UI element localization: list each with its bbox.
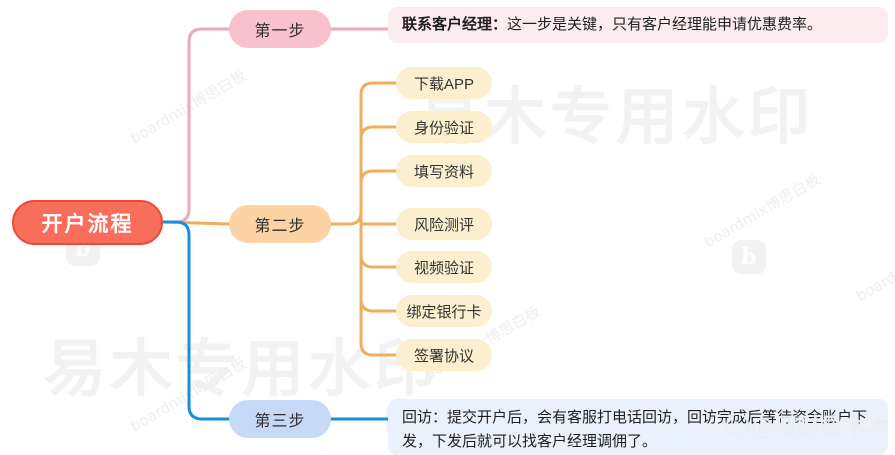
branch-node-step2[interactable]: 第二步 (229, 205, 331, 243)
leaf-node-5[interactable]: 视频验证 (396, 251, 492, 283)
user-watermark: @理财易木木 (726, 407, 889, 441)
link-step2-child-2 (361, 127, 396, 224)
leaf-node-1[interactable]: 下载APP (396, 67, 492, 99)
leaf-node-5-label: 视频验证 (414, 257, 474, 278)
link-step2-child-7 (361, 224, 396, 355)
leaf-node-3-label: 填写资料 (414, 161, 474, 182)
branch-node-step1-label: 第一步 (254, 17, 305, 41)
branch-node-step1[interactable]: 第一步 (229, 10, 331, 48)
branch-node-step3-label: 第三步 (254, 407, 305, 431)
leaf-node-7-label: 签署协议 (414, 345, 474, 366)
detail-card-step1-separator: ： (492, 16, 507, 33)
leaf-node-6[interactable]: 绑定银行卡 (396, 295, 492, 327)
leaf-node-7[interactable]: 签署协议 (396, 339, 492, 371)
leaf-node-4-label: 风险测评 (414, 214, 474, 235)
link-step2-child-5 (361, 224, 396, 267)
detail-card-step1[interactable]: 联系客户经理：这一步是关键，只有客户经理能申请优惠费率。 (388, 7, 888, 43)
leaf-node-6-label: 绑定银行卡 (406, 301, 481, 322)
mindmap-canvas: 易木专用水印 易木专用水印 boardmix博思白板 boardmix博思白板 … (0, 0, 895, 455)
root-node-label: 开户流程 (42, 208, 134, 238)
detail-card-step1-body: 这一步是关键，只有客户经理能申请优惠费率。 (507, 16, 822, 33)
leaf-node-2[interactable]: 身份验证 (396, 111, 492, 143)
link-step2-child-1 (331, 83, 396, 224)
link-root-step1 (163, 29, 229, 222)
branch-node-step2-label: 第二步 (254, 212, 305, 236)
leaf-node-1-label: 下载APP (414, 73, 474, 94)
link-root-step3 (163, 222, 229, 419)
branch-node-step3[interactable]: 第三步 (229, 400, 331, 438)
leaf-node-2-label: 身份验证 (414, 117, 474, 138)
user-watermark-label: @理财易木木 (751, 414, 889, 440)
leaf-node-4[interactable]: 风险测评 (396, 208, 492, 240)
detail-card-step1-title: 联系客户经理 (402, 16, 492, 33)
link-step2-child-3 (361, 171, 396, 224)
paw-icon (726, 413, 749, 436)
root-node[interactable]: 开户流程 (12, 200, 163, 245)
leaf-node-3[interactable]: 填写资料 (396, 155, 492, 187)
